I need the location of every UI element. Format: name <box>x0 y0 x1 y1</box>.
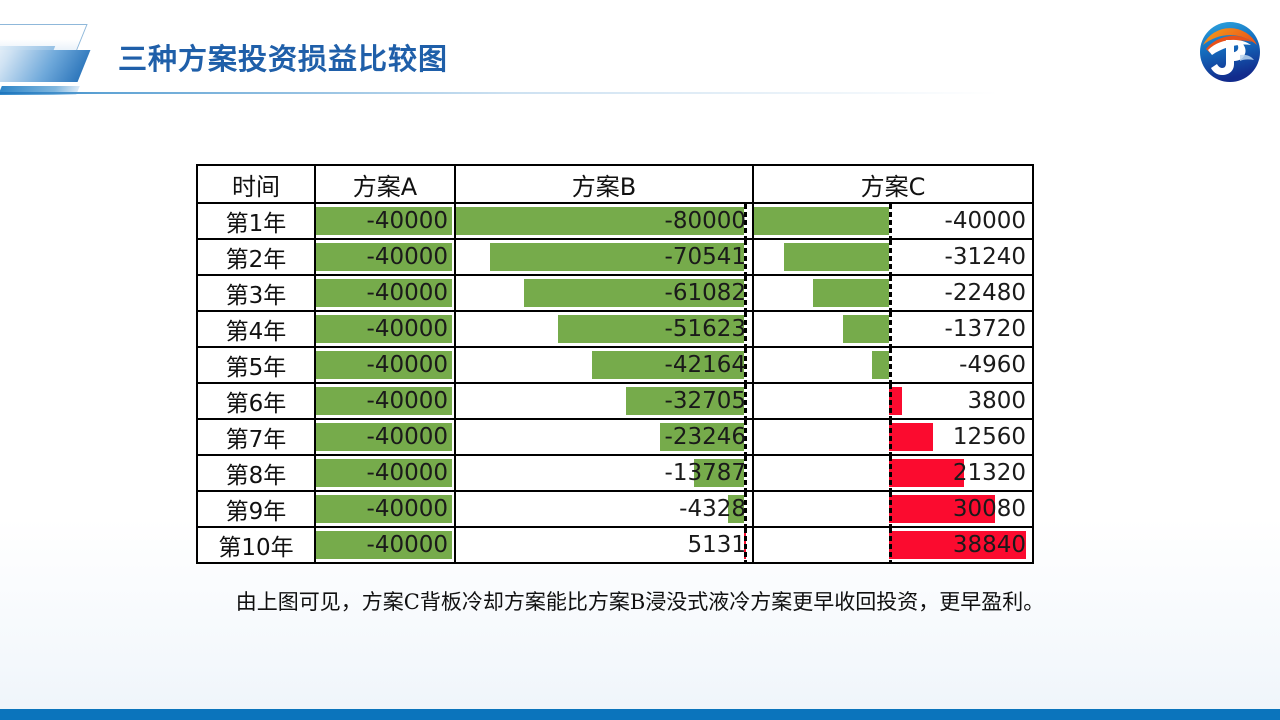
column-header-time: 时间 <box>197 165 315 203</box>
table-row: 第3年-40000-61082-22480 <box>197 275 1033 311</box>
cell-plan-c-bar: -13720 <box>753 311 1033 347</box>
cell-plan-c-bar: -4960 <box>753 347 1033 383</box>
table-row: 第9年-40000-432830080 <box>197 491 1033 527</box>
cell-value-plan-b: -61082 <box>456 278 752 309</box>
row-label-year: 第6年 <box>197 383 315 419</box>
cell-plan-c-bar: -40000 <box>753 203 1033 239</box>
cell-plan-b-bar: 5131 <box>455 527 753 563</box>
cell-value-plan-c: 12560 <box>754 422 1032 453</box>
cell-plan-c-bar: 3800 <box>753 383 1033 419</box>
cell-plan-c-bar: 38840 <box>753 527 1033 563</box>
cell-value-plan-b: -13787 <box>456 458 752 489</box>
table-row: 第1年-40000-80000-40000 <box>197 203 1033 239</box>
table-body: 第1年-40000-80000-40000第2年-40000-70541-312… <box>197 203 1033 563</box>
cell-value-plan-b: -4328 <box>456 494 752 525</box>
cell-plan-c-bar: -22480 <box>753 275 1033 311</box>
cell-value-plan-b: -80000 <box>456 206 752 237</box>
cell-value-plan-c: -4960 <box>754 350 1032 381</box>
row-label-year: 第9年 <box>197 491 315 527</box>
cell-value-plan-c: -22480 <box>754 278 1032 309</box>
cell-value-plan-c: 38840 <box>754 530 1032 561</box>
row-label-year: 第10年 <box>197 527 315 563</box>
cell-value-plan-c: 21320 <box>754 458 1032 489</box>
table-row: 第7年-40000-2324612560 <box>197 419 1033 455</box>
cell-value-plan-a: -40000 <box>316 314 454 345</box>
table-header: 时间 方案A 方案B 方案C <box>197 165 1033 203</box>
footer-accent-bar <box>0 709 1280 720</box>
column-header-plan-c: 方案C <box>753 165 1033 203</box>
cell-value-plan-b: -23246 <box>456 422 752 453</box>
cell-plan-b-bar: -61082 <box>455 275 753 311</box>
cell-value-plan-b: -70541 <box>456 242 752 273</box>
cell-value-plan-c: 30080 <box>754 494 1032 525</box>
cell-value-plan-b: -42164 <box>456 350 752 381</box>
cell-value-plan-a: -40000 <box>316 530 454 561</box>
table-row: 第5年-40000-42164-4960 <box>197 347 1033 383</box>
cell-plan-a-bar: -40000 <box>315 347 455 383</box>
cell-value-plan-b: -51623 <box>456 314 752 345</box>
company-logo <box>1196 18 1264 86</box>
cell-value-plan-a: -40000 <box>316 458 454 489</box>
cell-plan-b-bar: -70541 <box>455 239 753 275</box>
cell-plan-a-bar: -40000 <box>315 275 455 311</box>
cell-plan-b-bar: -4328 <box>455 491 753 527</box>
table-row: 第10年-40000513138840 <box>197 527 1033 563</box>
cell-plan-b-bar: -80000 <box>455 203 753 239</box>
row-label-year: 第2年 <box>197 239 315 275</box>
cell-plan-a-bar: -40000 <box>315 455 455 491</box>
cell-plan-b-bar: -42164 <box>455 347 753 383</box>
cell-value-plan-c: -31240 <box>754 242 1032 273</box>
cell-plan-a-bar: -40000 <box>315 527 455 563</box>
table-row: 第8年-40000-1378721320 <box>197 455 1033 491</box>
cell-value-plan-a: -40000 <box>316 350 454 381</box>
comparison-table-container: 时间 方案A 方案B 方案C 第1年-40000-80000-40000第2年-… <box>196 164 1032 556</box>
row-label-year: 第4年 <box>197 311 315 347</box>
cell-plan-a-bar: -40000 <box>315 419 455 455</box>
page-title: 三种方案投资损益比较图 <box>118 36 448 78</box>
header-decoration-filled <box>0 50 90 82</box>
cell-value-plan-c: -13720 <box>754 314 1032 345</box>
cell-value-plan-a: -40000 <box>316 386 454 417</box>
row-label-year: 第1年 <box>197 203 315 239</box>
cell-value-plan-a: -40000 <box>316 242 454 273</box>
cell-plan-b-bar: -51623 <box>455 311 753 347</box>
cell-value-plan-a: -40000 <box>316 422 454 453</box>
cell-value-plan-c: 3800 <box>754 386 1032 417</box>
slide-caption: 由上图可见，方案C背板冷却方案能比方案B浸没式液冷方案更早收回投资，更早盈利。 <box>0 586 1280 616</box>
header-row: 时间 方案A 方案B 方案C <box>197 165 1033 203</box>
cell-value-plan-a: -40000 <box>316 206 454 237</box>
slide-canvas: 三种方案投资损益比较图 <box>0 0 1280 720</box>
cell-plan-c-bar: 21320 <box>753 455 1033 491</box>
cell-plan-c-bar: -31240 <box>753 239 1033 275</box>
row-label-year: 第7年 <box>197 419 315 455</box>
cell-plan-b-bar: -23246 <box>455 419 753 455</box>
cell-value-plan-b: -32705 <box>456 386 752 417</box>
row-label-year: 第3年 <box>197 275 315 311</box>
cell-value-plan-a: -40000 <box>316 278 454 309</box>
table-row: 第4年-40000-51623-13720 <box>197 311 1033 347</box>
table-row: 第6年-40000-327053800 <box>197 383 1033 419</box>
cell-value-plan-c: -40000 <box>754 206 1032 237</box>
cell-plan-b-bar: -32705 <box>455 383 753 419</box>
cell-plan-c-bar: 12560 <box>753 419 1033 455</box>
cell-plan-a-bar: -40000 <box>315 311 455 347</box>
cell-plan-c-bar: 30080 <box>753 491 1033 527</box>
cell-plan-b-bar: -13787 <box>455 455 753 491</box>
table-row: 第2年-40000-70541-31240 <box>197 239 1033 275</box>
cell-value-plan-a: -40000 <box>316 494 454 525</box>
row-label-year: 第5年 <box>197 347 315 383</box>
cell-plan-a-bar: -40000 <box>315 203 455 239</box>
column-header-plan-a: 方案A <box>315 165 455 203</box>
cell-plan-a-bar: -40000 <box>315 383 455 419</box>
cell-plan-a-bar: -40000 <box>315 239 455 275</box>
column-header-plan-b: 方案B <box>455 165 753 203</box>
cell-value-plan-b: 5131 <box>456 530 752 561</box>
comparison-table: 时间 方案A 方案B 方案C 第1年-40000-80000-40000第2年-… <box>196 164 1034 564</box>
header-divider-line <box>0 92 1280 94</box>
cell-plan-a-bar: -40000 <box>315 491 455 527</box>
row-label-year: 第8年 <box>197 455 315 491</box>
